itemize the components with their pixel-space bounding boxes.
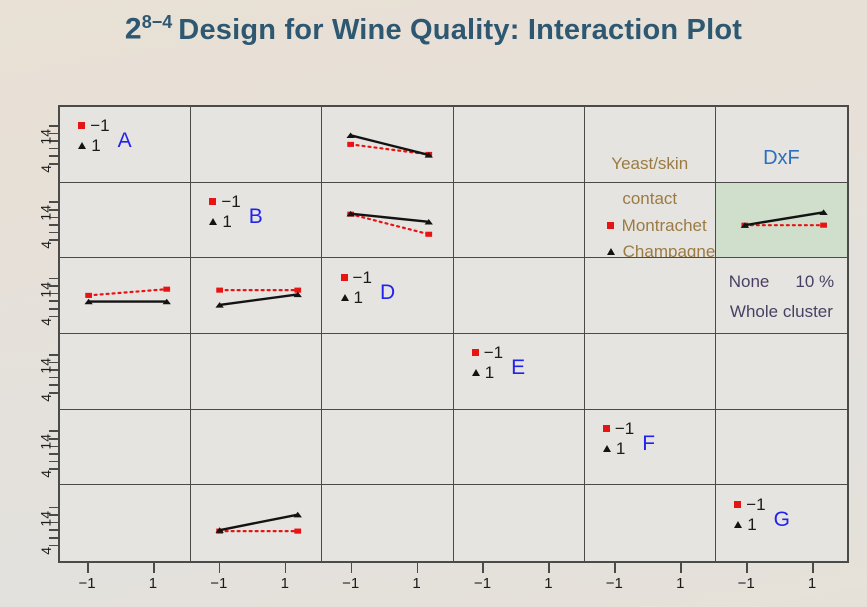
panel-r6-c5[interactable]: [585, 485, 716, 561]
x-tick-label: −1: [342, 575, 359, 592]
panel-r4-c4[interactable]: −11E: [454, 334, 585, 410]
diagonal-legend-b: −11B: [209, 193, 262, 230]
panel-r4-c1[interactable]: [60, 334, 191, 410]
x-tick-label: 1: [808, 575, 816, 592]
y-tick: [49, 461, 58, 463]
y-tick: [49, 537, 58, 539]
x-axis-column: −11: [58, 563, 190, 607]
y-tick: [49, 507, 58, 509]
y-tick-label-low: 4: [38, 241, 54, 249]
level-label: −1: [353, 269, 372, 286]
factor-label-g: G: [774, 509, 790, 530]
red-square-marker: [603, 425, 610, 432]
y-tick: [49, 453, 58, 455]
panel-r5-c2[interactable]: [191, 410, 322, 486]
x-tick: [812, 563, 814, 573]
x-tick: [285, 563, 287, 573]
yeast-legend-body: contactMontrachetChampagne: [585, 189, 715, 259]
factor-label-f: F: [642, 433, 655, 454]
x-axis-column: −11: [585, 563, 717, 607]
red-square-marker: [348, 142, 355, 147]
x-tick-label: −1: [738, 575, 755, 592]
title-base: 2: [125, 13, 142, 46]
level-label: 1: [222, 213, 231, 230]
y-tick: [49, 308, 58, 310]
scatterplot-matrix: −11AYeast/skinDxF−11BcontactMontrachetCh…: [58, 105, 849, 563]
y-axis-row: 144: [0, 258, 58, 334]
x-tick-label: −1: [606, 575, 623, 592]
level-label: 1: [747, 516, 756, 533]
level-label: 1: [485, 364, 494, 381]
y-tick: [49, 201, 58, 203]
x-tick-label: 1: [412, 575, 420, 592]
panel-r2-c3[interactable]: [322, 183, 453, 259]
factor-label-d: D: [380, 282, 395, 303]
x-tick: [417, 563, 419, 573]
panel-r5-c5[interactable]: −11F: [585, 410, 716, 486]
y-tick: [49, 430, 58, 432]
x-tick-label: 1: [149, 575, 157, 592]
level-label: 1: [91, 137, 100, 154]
red-square-marker: [85, 293, 92, 298]
level-key-row: −1: [472, 344, 503, 361]
factor-label-e: E: [511, 357, 525, 378]
x-axis: −11−11−11−11−11−11: [58, 563, 849, 607]
level-key: −11: [341, 269, 372, 306]
y-axis-row: 144: [0, 334, 58, 410]
y-tick: [49, 148, 58, 150]
y-tick-label-high: 14: [38, 129, 54, 145]
panel-r1-c1[interactable]: −11A: [60, 107, 191, 183]
y-tick-label-high: 14: [38, 511, 54, 527]
interaction-subplot: [322, 183, 452, 258]
level-key: −11: [734, 496, 765, 533]
yeast-legend-entry: Champagne: [585, 242, 715, 259]
x-tick-label: −1: [78, 575, 95, 592]
y-tick-label-high: 14: [38, 282, 54, 298]
level-label: −1: [746, 496, 765, 513]
level-key-row: 1: [603, 440, 634, 457]
panel-r6-c2[interactable]: [191, 485, 322, 561]
panel-r4-c2[interactable]: [191, 334, 322, 410]
interaction-subplot: [322, 107, 452, 182]
diagonal-legend-d: −11D: [341, 269, 396, 306]
y-tick: [49, 125, 58, 127]
annotation-percent: 10 %: [795, 272, 834, 292]
yeast-legend-entry-label: Champagne: [623, 242, 716, 259]
y-tick: [49, 155, 58, 157]
page-title: 28−4Design for Wine Quality: Interaction…: [0, 12, 867, 47]
panel-r3-c2[interactable]: [191, 258, 322, 334]
y-tick: [49, 300, 58, 302]
red-square-marker: [295, 529, 302, 534]
interaction-subplot: [716, 183, 847, 258]
red-square-marker: [472, 349, 479, 356]
series-line-1: [745, 212, 824, 225]
yeast-legend-entry: Montrachet: [585, 216, 715, 236]
panel-r4-c5[interactable]: [585, 334, 716, 410]
x-tick: [482, 563, 484, 573]
diagonal-legend-g: −11G: [734, 496, 790, 533]
yeast-legend-subtitle: contact: [585, 189, 715, 209]
y-axis-row: 144: [0, 105, 58, 181]
panel-r3-c3[interactable]: −11D: [322, 258, 453, 334]
y-tick-label-low: 4: [38, 318, 54, 326]
annotation-whole-cluster: Whole cluster: [716, 302, 847, 322]
panel-r5-c4[interactable]: [454, 410, 585, 486]
level-label: −1: [221, 193, 240, 210]
level-key-row: 1: [209, 213, 240, 230]
y-tick-label-low: 4: [38, 470, 54, 478]
red-square-marker: [163, 287, 170, 292]
level-key-row: −1: [78, 117, 109, 134]
interaction-subplot: [60, 258, 190, 333]
panel-r4-c3[interactable]: [322, 334, 453, 410]
x-tick: [548, 563, 550, 573]
factor-label-b: B: [249, 206, 263, 227]
x-tick-label: 1: [281, 575, 289, 592]
y-tick: [49, 278, 58, 280]
panel-r5-c1[interactable]: [60, 410, 191, 486]
panel-r2-c1[interactable]: [60, 183, 191, 259]
title-exponent: 8−4: [142, 12, 173, 32]
black-triangle-marker: [78, 142, 86, 149]
yeast-legend-title: Yeast/skin: [585, 154, 715, 174]
y-tick-label-low: 4: [38, 394, 54, 402]
diagonal-legend-e: −11E: [472, 344, 525, 381]
level-label: −1: [615, 420, 634, 437]
x-tick-label: −1: [474, 575, 491, 592]
level-key-row: 1: [472, 364, 503, 381]
y-tick-label-high: 14: [38, 434, 54, 450]
x-tick: [614, 563, 616, 573]
annotation-none: None: [729, 272, 770, 292]
level-key: −11: [603, 420, 634, 457]
panel-r2-c4[interactable]: [454, 183, 585, 259]
series-line-1: [220, 515, 298, 530]
y-tick-label-low: 4: [38, 547, 54, 555]
black-triangle-marker: [209, 218, 217, 225]
y-tick-label-high: 14: [38, 205, 54, 221]
level-key: −11: [209, 193, 240, 230]
panel-r6-c6[interactable]: −11G: [716, 485, 847, 561]
level-label: −1: [484, 344, 503, 361]
title-text: Design for Wine Quality: Interaction Plo…: [178, 14, 742, 46]
black-triangle-marker: [607, 248, 615, 255]
level-key-row: −1: [603, 420, 634, 437]
y-tick: [49, 224, 58, 226]
interaction-subplot: [191, 258, 321, 333]
level-label: −1: [90, 117, 109, 134]
y-tick: [49, 232, 58, 234]
black-triangle-marker: [472, 369, 480, 376]
panel-r5-c6[interactable]: [716, 410, 847, 486]
panel-r1-c2[interactable]: [191, 107, 322, 183]
y-tick: [49, 529, 58, 531]
y-tick: [49, 384, 58, 386]
x-axis-column: −11: [322, 563, 454, 607]
x-tick: [219, 563, 221, 573]
yeast-legend-entry-label: Montrachet: [622, 216, 707, 236]
dxf-label: DxF: [716, 147, 847, 170]
level-key: −11: [78, 117, 109, 154]
y-axis-row: 144: [0, 181, 58, 257]
diagonal-legend-f: −11F: [603, 420, 655, 457]
red-square-marker: [341, 274, 348, 281]
level-key: −11: [472, 344, 503, 381]
x-axis-column: −11: [453, 563, 585, 607]
red-square-marker: [78, 122, 85, 129]
x-tick: [680, 563, 682, 573]
level-key-row: 1: [341, 289, 372, 306]
panel-r6-c1[interactable]: [60, 485, 191, 561]
interaction-plot-figure: 28−4Design for Wine Quality: Interaction…: [0, 0, 867, 607]
panel-r1-c5[interactable]: Yeast/skin: [585, 107, 716, 183]
panel-r6-c3[interactable]: [322, 485, 453, 561]
panel-r5-c3[interactable]: [322, 410, 453, 486]
red-square-marker: [734, 501, 741, 508]
x-tick-label: 1: [676, 575, 684, 592]
panel-r1-c4[interactable]: [454, 107, 585, 183]
panel-r3-c6[interactable]: None10 %Whole cluster: [716, 258, 847, 334]
red-square-marker: [426, 231, 433, 236]
y-tick: [49, 354, 58, 356]
x-tick: [746, 563, 748, 573]
panel-r1-c6[interactable]: DxF: [716, 107, 847, 183]
series-line-1: [220, 295, 298, 306]
y-tick-label-high: 14: [38, 358, 54, 374]
panel-r3-c4[interactable]: [454, 258, 585, 334]
diagonal-legend-a: −11A: [78, 117, 131, 154]
red-square-marker: [216, 288, 223, 293]
level-label: 1: [616, 440, 625, 457]
series-line--1: [89, 290, 167, 296]
x-tick: [153, 563, 155, 573]
panel-r3-c1[interactable]: [60, 258, 191, 334]
level-key-row: −1: [341, 269, 372, 286]
panel-r2-c5[interactable]: contactMontrachetChampagne: [585, 183, 716, 259]
factor-label-a: A: [118, 130, 132, 151]
panel-r1-c3[interactable]: [322, 107, 453, 183]
black-triangle-marker: [341, 294, 349, 301]
dxf-annotation: None10 %Whole cluster: [716, 272, 847, 322]
y-axis: 144144144144144144: [0, 105, 58, 563]
x-tick-label: 1: [544, 575, 552, 592]
x-axis-column: −11: [717, 563, 849, 607]
x-tick-label: −1: [210, 575, 227, 592]
level-key-row: −1: [734, 496, 765, 513]
red-square-marker: [820, 222, 827, 227]
level-key-row: 1: [734, 516, 765, 533]
y-tick-label-low: 4: [38, 165, 54, 173]
black-triangle-marker: [734, 521, 742, 528]
level-key-row: 1: [78, 137, 109, 154]
x-tick: [351, 563, 353, 573]
panel-r2-c6[interactable]: [716, 183, 847, 259]
y-axis-row: 144: [0, 487, 58, 563]
level-label: 1: [354, 289, 363, 306]
panel-r4-c6[interactable]: [716, 334, 847, 410]
red-square-marker: [607, 222, 614, 229]
x-axis-column: −11: [190, 563, 322, 607]
panel-r2-c2[interactable]: −11B: [191, 183, 322, 259]
panel-r3-c5[interactable]: [585, 258, 716, 334]
y-tick: [49, 377, 58, 379]
interaction-subplot: [191, 485, 321, 561]
panel-r6-c4[interactable]: [454, 485, 585, 561]
red-square-marker: [209, 198, 216, 205]
level-key-row: −1: [209, 193, 240, 210]
y-axis-row: 144: [0, 410, 58, 486]
x-tick: [87, 563, 89, 573]
black-triangle-marker: [603, 445, 611, 452]
